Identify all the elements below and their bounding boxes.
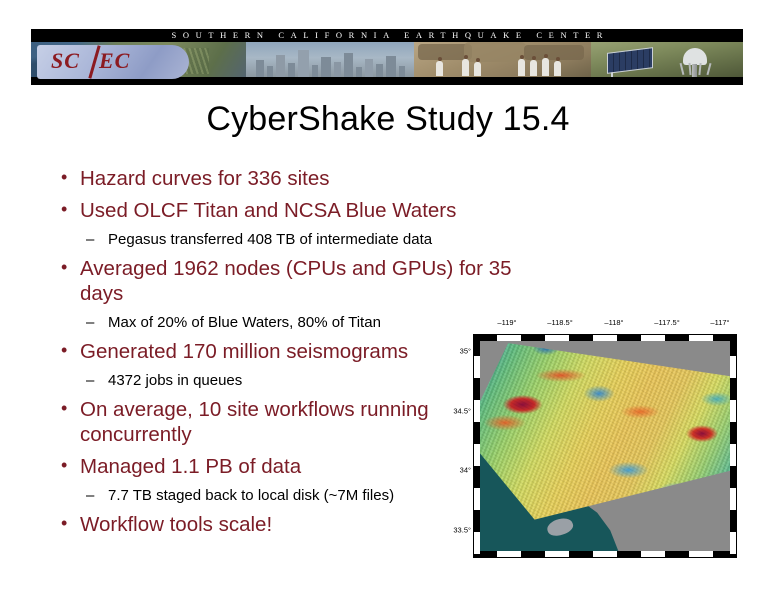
banner-field-team-image (414, 42, 594, 77)
map-ytick-label: 35° (452, 347, 471, 356)
map-xtick-label: –117.5° (654, 318, 679, 327)
sub-bullet-item: Pegasus transferred 408 TB of intermedia… (56, 230, 526, 249)
map-axis-right (730, 334, 737, 558)
bullet-item: On average, 10 site workflows running co… (56, 397, 430, 447)
solar-panel-icon (607, 47, 653, 74)
map-xtick-label: –119° (497, 318, 516, 327)
page-title: CyberShake Study 15.4 (0, 100, 776, 139)
map-ytick-label: 34° (452, 466, 471, 475)
scec-logo: SC EC (37, 45, 189, 79)
hazard-map-figure: –119° –118.5° –118° –117.5° –117° 35° 34… (452, 312, 744, 564)
map-axis-left (473, 334, 480, 558)
map-xtick-label: –118° (604, 318, 623, 327)
map-xtick-label: –117° (710, 318, 729, 327)
map-ytick-label: 34.5° (452, 407, 471, 416)
bullet-item: Averaged 1962 nodes (CPUs and GPUs) for … (56, 256, 526, 306)
scec-logo-left-text: SC (51, 48, 80, 74)
organization-name: SOUTHERN CALIFORNIA EARTHQUAKE CENTER (31, 29, 743, 42)
scec-logo-right-text: EC (99, 48, 130, 74)
map-axis-top (473, 334, 737, 341)
map-axis-bottom (473, 551, 737, 558)
hazard-map-plot-area (473, 334, 737, 558)
banner-city-skyline (246, 42, 416, 77)
bullet-item: Hazard curves for 336 sites (56, 166, 526, 191)
bullet-item: Used OLCF Titan and NCSA Blue Waters (56, 198, 526, 223)
scec-banner: SOUTHERN CALIFORNIA EARTHQUAKE CENTER SC… (31, 29, 743, 85)
banner-instrument-site-image (591, 42, 743, 77)
antenna-legs (679, 63, 711, 75)
map-ytick-label: 33.5° (452, 526, 471, 535)
map-xtick-label: –118.5° (547, 318, 572, 327)
